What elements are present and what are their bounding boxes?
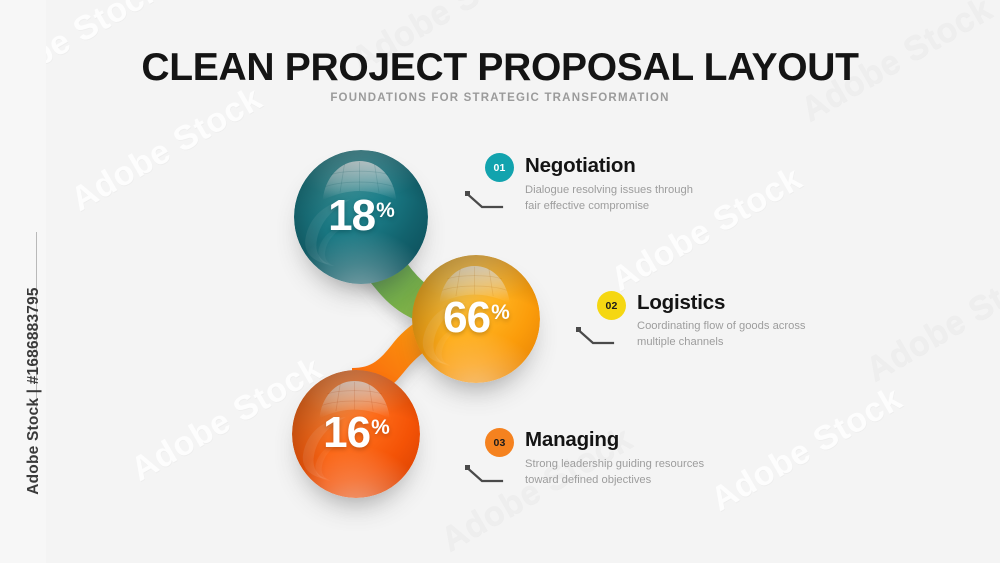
- sphere-logistics[interactable]: 66%: [412, 255, 540, 383]
- sphere-value-managing: 16%: [292, 408, 420, 458]
- sphere-value-number: 18: [328, 191, 375, 240]
- leader-line-icon: [462, 462, 508, 488]
- item-title-managing: Managing: [525, 428, 619, 452]
- badge-number: 01: [493, 162, 505, 174]
- percent-symbol: %: [376, 199, 394, 222]
- badge-number: 02: [605, 300, 617, 312]
- infographic-canvas: Adobe Stock Adobe Stock Adobe Stock Adob…: [0, 0, 1000, 563]
- item-desc-managing: Strong leadership guiding resources towa…: [525, 457, 755, 489]
- item-title-negotiation: Negotiation: [525, 154, 636, 178]
- percent-symbol: %: [491, 301, 509, 324]
- sphere-value-number: 66: [443, 293, 490, 342]
- leader-line-icon: [462, 188, 508, 214]
- item-desc-logistics: Coordinating flow of goods across multip…: [637, 319, 867, 351]
- sphere-value-logistics: 66%: [412, 293, 540, 343]
- badge-01[interactable]: 01: [485, 153, 514, 182]
- badge-03[interactable]: 03: [485, 428, 514, 457]
- badge-number: 03: [493, 437, 505, 449]
- leader-line-icon: [573, 324, 619, 350]
- sphere-managing[interactable]: 16%: [292, 370, 420, 498]
- item-desc-negotiation: Dialogue resolving issues through fair e…: [525, 183, 755, 215]
- item-title-logistics: Logistics: [637, 291, 725, 315]
- percent-symbol: %: [371, 416, 389, 439]
- sphere-value-negotiation: 18%: [294, 191, 428, 241]
- sphere-value-number: 16: [323, 408, 370, 457]
- badge-02[interactable]: 02: [597, 291, 626, 320]
- sphere-negotiation[interactable]: 18%: [294, 150, 428, 284]
